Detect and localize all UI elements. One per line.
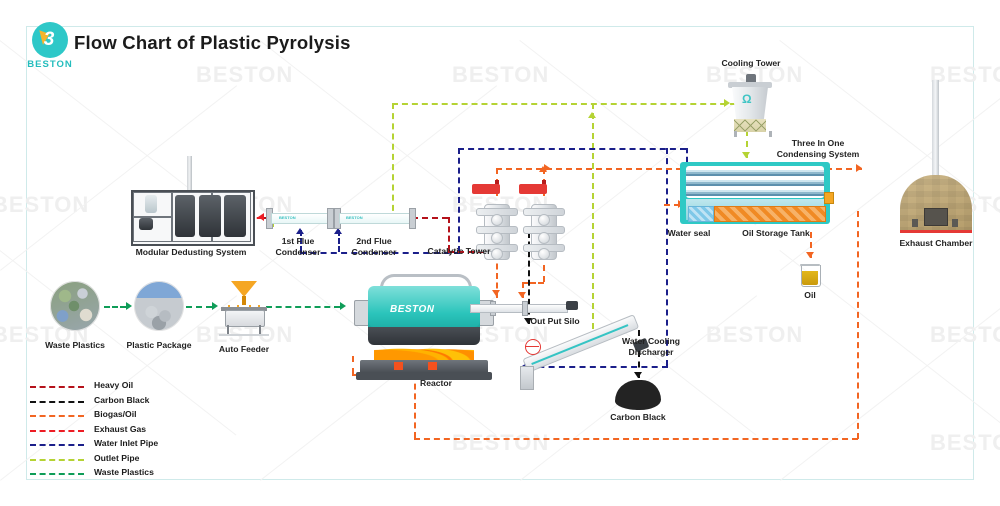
plastic-package-label: Plastic Package bbox=[113, 340, 205, 351]
dedusting-tank bbox=[199, 195, 221, 237]
pipe-waste-plastics bbox=[266, 306, 340, 308]
three-in-one-line1: Three In One bbox=[792, 138, 845, 148]
exhaust-chamber-label: Exhaust Chamber bbox=[886, 238, 986, 249]
pipe-water-inlet bbox=[686, 148, 688, 162]
beaker-liquid bbox=[802, 271, 817, 285]
dedusting-tank bbox=[175, 195, 195, 237]
oil-beaker bbox=[800, 262, 820, 286]
legend-label: Carbon Black bbox=[94, 395, 149, 405]
page-title: Flow Chart of Plastic Pyrolysis bbox=[74, 32, 351, 54]
hopper-icon bbox=[231, 281, 257, 297]
pipe-water-inlet bbox=[458, 148, 460, 252]
condenser-label-line1: 2nd Flue bbox=[356, 236, 391, 246]
silo-flange bbox=[522, 301, 528, 316]
condenser-label-line2: Condenser bbox=[276, 247, 321, 257]
catalytic-tower-label: Catalytic Tower bbox=[414, 246, 504, 257]
condenser-label-line2: Condenser bbox=[352, 247, 397, 257]
oil-storage-tank-label: Oil Storage Tank bbox=[726, 228, 826, 239]
plastic-package-image bbox=[134, 281, 184, 331]
oil-storage-section bbox=[714, 206, 826, 222]
first-flue-condenser: BESTON bbox=[266, 208, 332, 228]
reactor-label: Reactor bbox=[406, 378, 466, 389]
tower-knob bbox=[538, 248, 550, 260]
dedusting-stack-icon bbox=[187, 156, 192, 192]
carbon-black-pile bbox=[615, 380, 661, 410]
condenser-flange bbox=[327, 208, 334, 229]
valve-wheel-icon bbox=[525, 339, 541, 355]
watermark: BESTON bbox=[706, 322, 803, 348]
pipe-waste-plastics bbox=[186, 306, 212, 308]
legend-swatch bbox=[30, 430, 84, 432]
pipe-biogas-right-riser bbox=[857, 211, 859, 439]
tower-knob bbox=[491, 214, 503, 226]
second-flue-condenser-label: 2nd Flue Condenser bbox=[334, 236, 414, 257]
feeder-base bbox=[219, 334, 269, 336]
catalytic-tower bbox=[523, 196, 563, 266]
condenser-brand: BESTON bbox=[346, 215, 363, 220]
arrow-right-icon bbox=[126, 302, 132, 310]
tower-valve-icon bbox=[519, 184, 547, 194]
feeder-leg bbox=[227, 325, 229, 334]
cooling-tower-brand-icon: Ω bbox=[742, 92, 752, 106]
legend-swatch bbox=[30, 459, 84, 461]
pipe-outlet bbox=[392, 103, 394, 221]
chimney-icon bbox=[932, 80, 939, 180]
silo-pipe-body bbox=[470, 304, 568, 313]
reactor: BESTON bbox=[350, 272, 496, 382]
watermark: BESTON bbox=[452, 430, 549, 456]
condenser-flange bbox=[409, 208, 416, 229]
pipe-waste-plastics bbox=[104, 306, 126, 308]
carbon-black-label: Carbon Black bbox=[592, 412, 684, 423]
cooling-tower-label: Cooling Tower bbox=[706, 58, 796, 69]
three-in-one-line2: Condensing System bbox=[777, 149, 860, 159]
arrow-down-icon bbox=[806, 252, 814, 258]
reactor-burner-port bbox=[428, 362, 437, 370]
pipe-outlet bbox=[392, 103, 746, 105]
beaker-lip bbox=[800, 264, 820, 266]
legend-label: Outlet Pipe bbox=[94, 453, 139, 463]
watermark: BESTON bbox=[196, 62, 293, 88]
condenser-brand: BESTON bbox=[279, 215, 296, 220]
arrow-right-icon bbox=[212, 302, 218, 310]
reactor-brand-label: BESTON bbox=[390, 304, 435, 315]
dedusting-blower bbox=[139, 218, 153, 230]
legend-swatch bbox=[30, 444, 84, 446]
cooling-tower: Ω bbox=[722, 74, 778, 140]
out-put-silo bbox=[470, 296, 580, 318]
feeder-leg bbox=[259, 325, 261, 334]
logo-glyph: 3 bbox=[38, 29, 60, 51]
exhaust-chamber-sill bbox=[900, 230, 972, 233]
second-flue-condenser: BESTON bbox=[334, 208, 414, 228]
modular-dedusting-system bbox=[131, 172, 251, 244]
legend-label: Exhaust Gas bbox=[94, 424, 146, 434]
logo-wordmark: BESTON bbox=[24, 59, 76, 70]
pipe-biogas bbox=[522, 282, 544, 284]
valve-spoke bbox=[525, 346, 539, 348]
exhaust-chamber-hook bbox=[912, 219, 918, 227]
legend-swatch bbox=[30, 401, 84, 403]
condenser-label-line1: 1st Flue bbox=[282, 236, 314, 246]
three-in-one-label: Three In One Condensing System bbox=[758, 138, 878, 159]
pipe-water-inlet bbox=[458, 148, 686, 150]
legend-label: Heavy Oil bbox=[94, 380, 133, 390]
tower-knob bbox=[538, 214, 550, 226]
tower-knob bbox=[538, 232, 550, 244]
reactor-burner-port bbox=[394, 362, 403, 370]
pipe-biogas-bottom bbox=[414, 438, 858, 440]
watermark: BESTON bbox=[930, 430, 1000, 456]
exhaust-chamber-hook bbox=[952, 219, 958, 227]
auto-feeder bbox=[219, 281, 269, 337]
pipe-heavy-oil bbox=[412, 217, 448, 219]
dedusting-tank bbox=[224, 195, 246, 237]
dedusting-motor bbox=[145, 195, 157, 213]
watermark: BESTON bbox=[452, 62, 549, 88]
pipe-outlet-riser bbox=[592, 103, 594, 339]
condensing-outlet-valve bbox=[824, 192, 834, 204]
condensing-tube-stack bbox=[686, 166, 824, 198]
legend-label: Water Inlet Pipe bbox=[94, 438, 158, 448]
legend-label: Biogas/Oil bbox=[94, 409, 137, 419]
discharger-line1: Water Cooling bbox=[622, 336, 680, 346]
flame-icon bbox=[374, 342, 474, 362]
legend-swatch bbox=[30, 415, 84, 417]
discharger-line2: Discharger bbox=[629, 347, 674, 357]
feeder-neck bbox=[242, 296, 246, 305]
pipe-water-inlet-right bbox=[666, 148, 668, 366]
arrow-up-icon bbox=[296, 228, 304, 234]
waste-plastics-image bbox=[50, 281, 100, 331]
water-seal-label: Water seal bbox=[660, 228, 718, 239]
arrow-down-icon bbox=[742, 152, 750, 158]
three-in-one-condensing-system bbox=[680, 162, 832, 224]
beston-logo-icon: 3 BESTON bbox=[24, 20, 76, 72]
cooling-tower-legs bbox=[734, 131, 772, 137]
out-put-silo-label: Out Put Silo bbox=[518, 316, 592, 327]
legend-label: Waste Plastics bbox=[94, 467, 154, 477]
legend-swatch bbox=[30, 386, 84, 388]
arrow-up-icon bbox=[539, 166, 547, 172]
legend-swatch bbox=[30, 473, 84, 475]
modular-dedusting-label: Modular Dedusting System bbox=[131, 247, 251, 258]
arrow-right-icon bbox=[340, 302, 346, 310]
exhaust-chamber bbox=[896, 80, 976, 236]
waste-plastics-label: Waste Plastics bbox=[30, 340, 120, 351]
tower-knob bbox=[491, 232, 503, 244]
water-cooling-discharger-label: Water Cooling Discharger bbox=[604, 336, 698, 357]
arrow-right-icon bbox=[856, 164, 862, 172]
watermark: BESTON bbox=[0, 192, 89, 218]
first-flue-condenser-label: 1st Flue Condenser bbox=[258, 236, 338, 257]
flowchart-canvas: BESTON BESTON BESTON BESTON BESTON BESTO… bbox=[0, 0, 1000, 506]
water-seal-section bbox=[688, 206, 714, 222]
discharger-valve-assembly bbox=[524, 338, 542, 356]
oil-label: Oil bbox=[790, 290, 830, 301]
arrow-up-icon bbox=[588, 112, 596, 118]
silo-motor bbox=[566, 301, 578, 310]
auto-feeder-label: Auto Feeder bbox=[210, 344, 278, 355]
tower-valve-icon bbox=[472, 184, 500, 194]
discharger-foot bbox=[520, 366, 534, 390]
exhaust-chamber-door bbox=[924, 208, 948, 226]
